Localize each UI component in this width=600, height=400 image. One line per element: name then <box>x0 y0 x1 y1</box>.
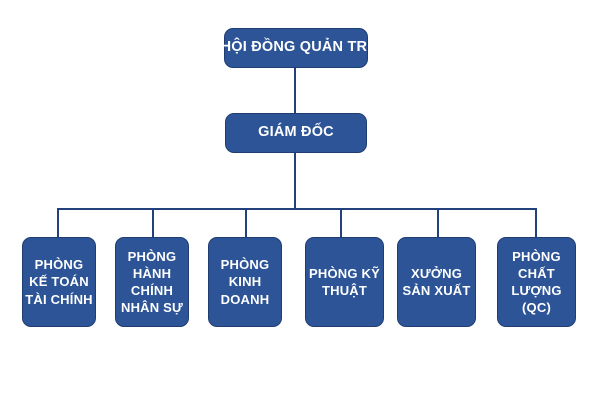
node-label-line: DOANH <box>221 291 270 308</box>
org-chart: HỘI ĐỒNG QUẢN TRỊ GIÁM ĐỐC PHÒNG KẾ TOÁN… <box>0 0 600 400</box>
node-label-line: HỘI ĐỒNG QUẢN TRỊ <box>221 38 372 57</box>
node-phong-ky-thuat[interactable]: PHÒNG KỸ THUẬT <box>305 237 384 327</box>
node-label-line: PHÒNG KỸ <box>309 265 380 282</box>
node-label-line: XƯỞNG <box>411 265 462 282</box>
connector-director-stem <box>294 153 296 209</box>
node-label-line: (QC) <box>522 299 551 316</box>
connector-horizontal-bus <box>57 208 536 210</box>
connector-drop-dept-4 <box>437 208 439 238</box>
node-xuong-san-xuat[interactable]: XƯỞNG SẢN XUẤT <box>397 237 476 327</box>
connector-root-to-director <box>294 68 296 113</box>
connector-drop-dept-0 <box>57 208 59 238</box>
node-label-line: PHÒNG <box>221 256 270 273</box>
node-label-line: TÀI CHÍNH <box>25 291 93 308</box>
node-giam-doc[interactable]: GIÁM ĐỐC <box>225 113 367 153</box>
node-label-line: HÀNH <box>133 265 171 282</box>
connector-drop-dept-1 <box>152 208 154 238</box>
node-label-line: SẢN XUẤT <box>402 282 470 299</box>
node-phong-ke-toan-tai-chinh[interactable]: PHÒNG KẾ TOÁN TÀI CHÍNH <box>22 237 96 327</box>
node-label-line: PHÒNG <box>35 256 84 273</box>
node-label-line: LƯỢNG <box>511 282 561 299</box>
node-phong-kinh-doanh[interactable]: PHÒNG KINH DOANH <box>208 237 282 327</box>
node-label-line: KINH <box>229 273 262 290</box>
connector-drop-dept-5 <box>535 208 537 238</box>
node-label-line: NHÂN SỰ <box>121 299 183 316</box>
connector-drop-dept-2 <box>245 208 247 238</box>
node-phong-hanh-chinh-nhan-su[interactable]: PHÒNG HÀNH CHÍNH NHÂN SỰ <box>115 237 189 327</box>
connector-drop-dept-3 <box>340 208 342 238</box>
node-label-line: KẾ TOÁN <box>29 273 89 290</box>
node-hoi-dong-quan-tri[interactable]: HỘI ĐỒNG QUẢN TRỊ <box>224 28 368 68</box>
node-phong-chat-luong-qc[interactable]: PHÒNG CHẤT LƯỢNG (QC) <box>497 237 576 327</box>
node-label-line: CHẤT <box>518 265 555 282</box>
node-label-line: CHÍNH <box>131 282 173 299</box>
node-label-line: THUẬT <box>322 282 367 299</box>
node-label-line: GIÁM ĐỐC <box>258 123 334 142</box>
node-label-line: PHÒNG <box>512 248 561 265</box>
node-label-line: PHÒNG <box>128 248 177 265</box>
